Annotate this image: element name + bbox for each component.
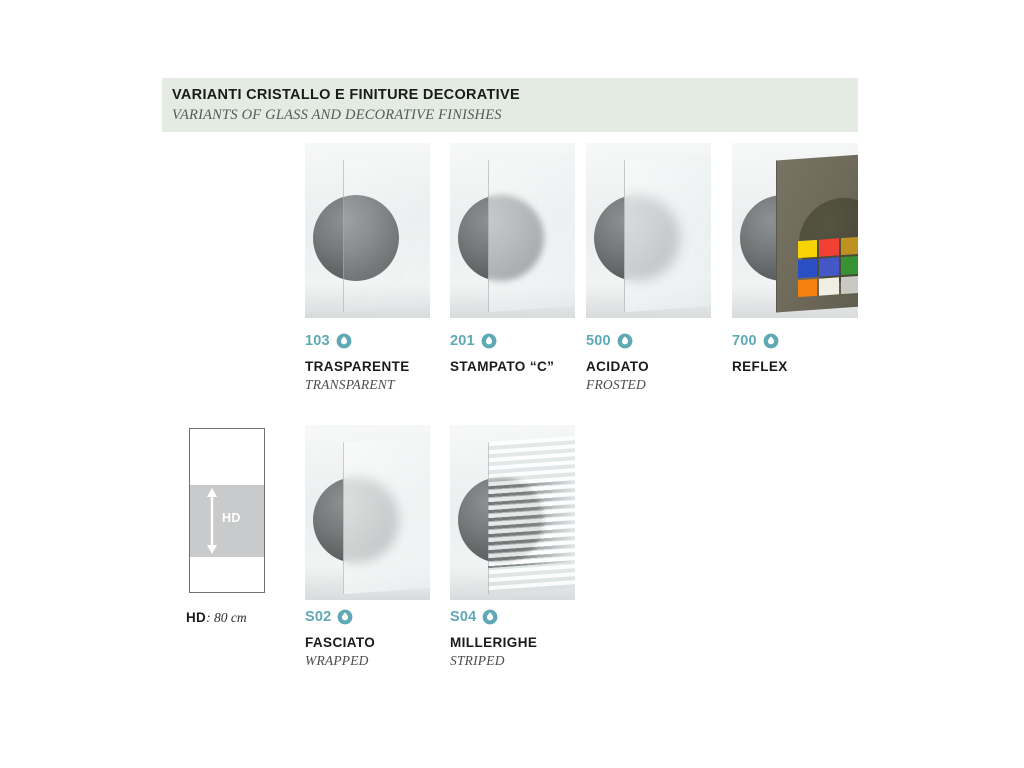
hd-band-label: HD: [222, 511, 241, 525]
sample-code: 103: [305, 333, 330, 349]
water-drop-icon: [763, 333, 779, 349]
checker-swatch: [841, 256, 858, 275]
sample-code: 201: [450, 333, 475, 349]
section-header-band: VARIANTI CRISTALLO E FINITURE DECORATIVE…: [162, 78, 858, 132]
checker-swatch: [819, 238, 838, 257]
page-title: VARIANTI CRISTALLO E FINITURE DECORATIVE: [172, 86, 858, 105]
water-drop-icon: [481, 333, 497, 349]
sample-image-S04: [450, 425, 575, 600]
glass-pane-transparent: [343, 154, 430, 312]
hd-caption-key: HD: [186, 610, 206, 625]
code-line: S04: [450, 608, 640, 626]
sample-name-it: MILLERIGHE: [450, 635, 640, 651]
hd-caption: HD: 80 cm: [186, 610, 247, 626]
checker-swatch: [841, 237, 858, 256]
checker-swatch: [798, 278, 817, 297]
checker-swatch: [841, 275, 858, 294]
water-drop-icon: [337, 609, 353, 625]
hd-caption-value: : 80 cm: [206, 610, 247, 625]
checker-swatch: [819, 258, 838, 277]
sample-name-en: TRANSPARENT: [305, 377, 495, 393]
hd-dimension-diagram: HD: [189, 428, 265, 593]
sample-label-700: 700 REFLEX: [732, 332, 922, 377]
sample-image-S02: [305, 425, 430, 600]
sample-image-700: [732, 143, 858, 318]
checker-swatch: [819, 277, 838, 296]
glass-pane-stampato: [488, 154, 575, 312]
code-line: 700: [732, 332, 922, 350]
sample-code: 500: [586, 333, 611, 349]
sample-image-201: [450, 143, 575, 318]
sample-image-500: [586, 143, 711, 318]
sample-code: 700: [732, 333, 757, 349]
checker-swatch: [798, 240, 817, 259]
sample-name-en: STRIPED: [450, 653, 640, 669]
sample-image-103: [305, 143, 430, 318]
sample-code: S02: [305, 609, 331, 625]
glass-pane-acidato: [624, 154, 711, 312]
water-drop-icon: [336, 333, 352, 349]
sample-code: S04: [450, 609, 476, 625]
rib-streak-overlay: [488, 480, 575, 568]
page-subtitle: VARIANTS OF GLASS AND DECORATIVE FINISHE…: [172, 105, 858, 125]
sample-name-en: FROSTED: [586, 377, 776, 393]
color-checker-chart: [798, 237, 858, 297]
sample-name-it: REFLEX: [732, 359, 922, 375]
sample-label-S04: S04 MILLERIGHE STRIPED: [450, 608, 640, 669]
double-arrow-icon: [205, 487, 219, 555]
glass-pane-fasciato: [343, 436, 430, 594]
water-drop-icon: [482, 609, 498, 625]
water-drop-icon: [617, 333, 633, 349]
checker-swatch: [798, 259, 817, 278]
